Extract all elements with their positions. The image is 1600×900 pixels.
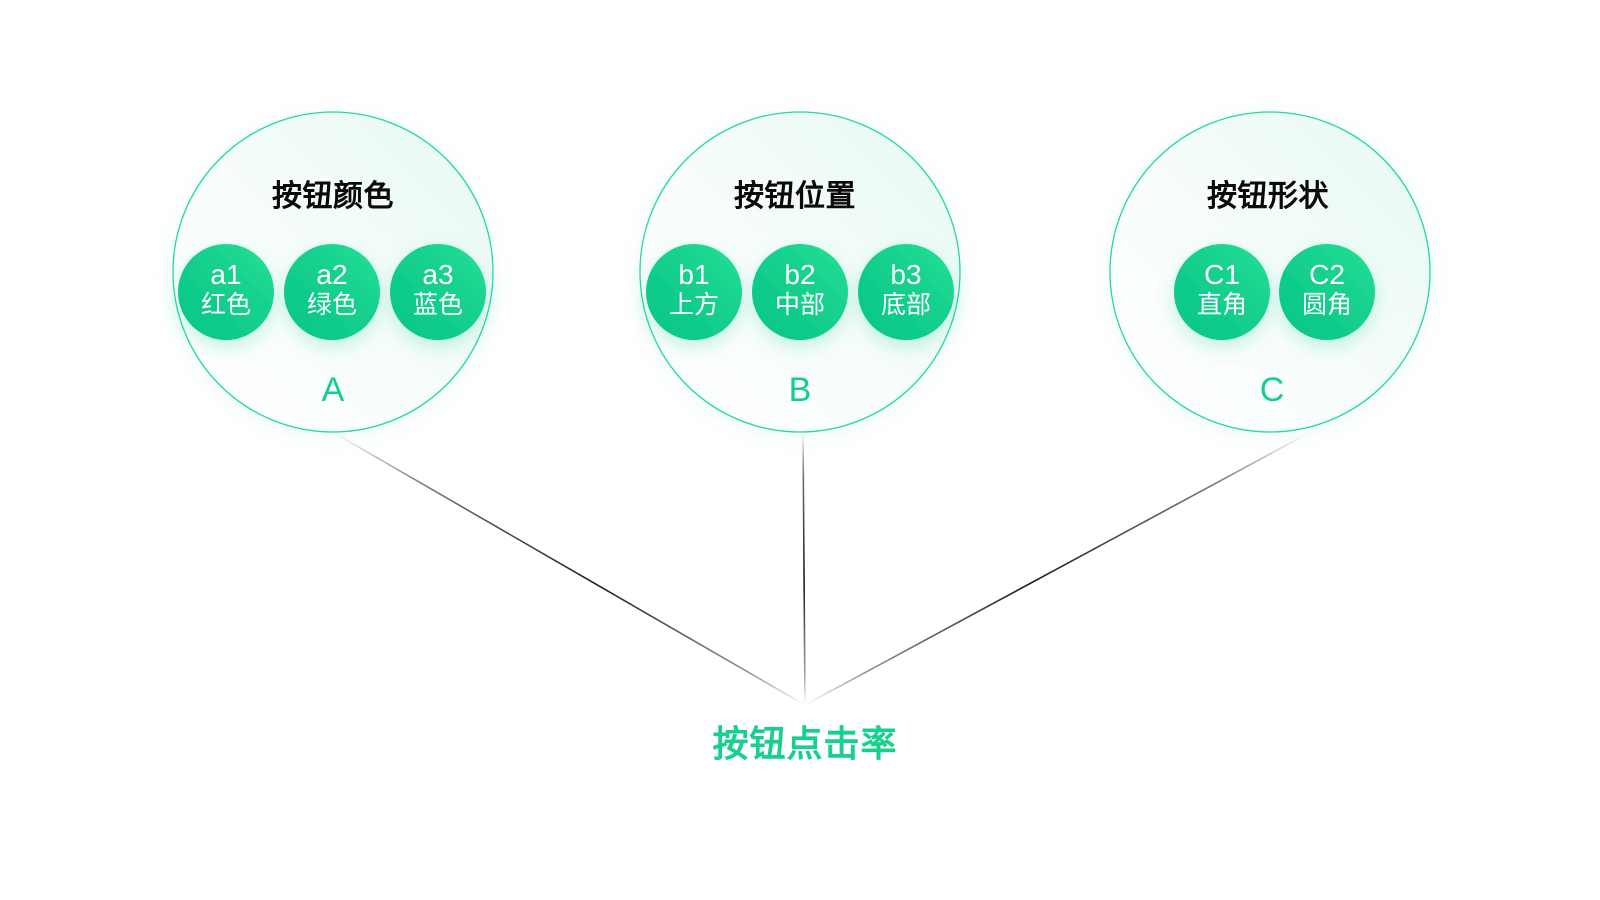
node-b3-code: b3 <box>890 259 921 290</box>
node-c1-label: 直角 <box>1197 291 1247 319</box>
diagram-canvas: 按钮颜色 a1 红色 a2 绿色 a3 蓝色 A <box>0 0 1600 900</box>
node-a3-label: 蓝色 <box>413 291 463 319</box>
node-c2-label: 圆角 <box>1302 291 1352 319</box>
group-a-title: 按钮颜色 <box>272 180 394 213</box>
node-b2-label: 中部 <box>775 291 825 319</box>
connector-line-a <box>336 434 805 705</box>
node-c1-code: C1 <box>1204 259 1240 290</box>
node-b1-label: 上方 <box>669 291 719 319</box>
node-a2[interactable]: a2 绿色 <box>284 244 380 340</box>
node-a1[interactable]: a1 红色 <box>178 244 274 340</box>
node-b2[interactable]: b2 中部 <box>752 244 848 340</box>
node-a1-label: 红色 <box>201 291 251 319</box>
factor-diagram: 按钮颜色 a1 红色 a2 绿色 a3 蓝色 A <box>0 0 1600 900</box>
node-b3[interactable]: b3 底部 <box>858 244 954 340</box>
node-c2[interactable]: C2 圆角 <box>1279 244 1375 340</box>
outcome-label: 按钮点击率 <box>712 723 897 764</box>
node-b3-label: 底部 <box>881 291 931 319</box>
factor-group-c[interactable]: 按钮形状 C1 直角 C2 圆角 C <box>1110 112 1430 432</box>
node-a3[interactable]: a3 蓝色 <box>390 244 486 340</box>
node-c2-code: C2 <box>1309 259 1345 290</box>
node-c1[interactable]: C1 直角 <box>1174 244 1270 340</box>
node-b2-code: b2 <box>784 259 815 290</box>
node-a2-label: 绿色 <box>307 291 357 319</box>
connector-lines <box>336 432 1307 705</box>
node-b1-code: b1 <box>678 259 709 290</box>
node-a1-code: a1 <box>210 259 241 290</box>
node-a2-code: a2 <box>316 259 347 290</box>
node-b1[interactable]: b1 上方 <box>646 244 742 340</box>
group-b-letter: B <box>789 371 812 409</box>
factor-group-a[interactable]: 按钮颜色 a1 红色 a2 绿色 a3 蓝色 A <box>173 112 493 432</box>
group-c-title: 按钮形状 <box>1207 180 1329 213</box>
node-a3-code: a3 <box>422 259 453 290</box>
group-a-letter: A <box>322 371 345 409</box>
connector-line-c <box>805 434 1307 705</box>
group-b-title: 按钮位置 <box>734 179 856 213</box>
factor-group-b[interactable]: 按钮位置 b1 上方 b2 中部 b3 底部 B <box>640 112 960 432</box>
group-c-letter: C <box>1260 371 1285 409</box>
connector-line-b <box>803 432 805 705</box>
